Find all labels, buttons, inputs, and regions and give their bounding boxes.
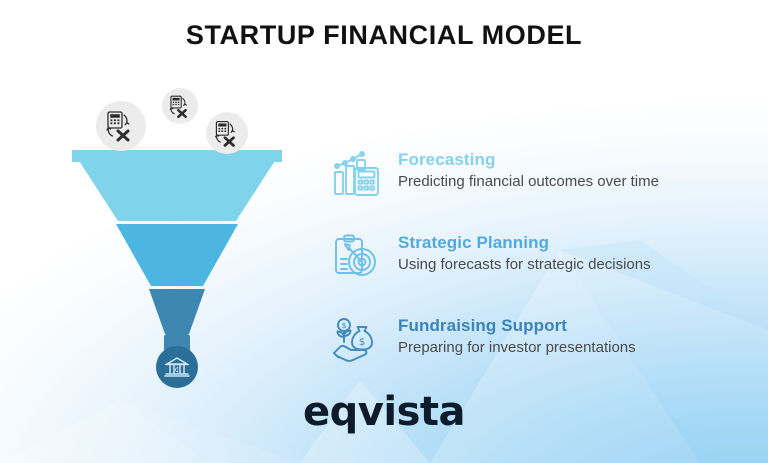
feature-subtitle-strategic-planning: Using forecasts for strategic decisions — [398, 255, 730, 275]
funnel-outlet: ¢ — [155, 345, 199, 389]
funnel-layer-bottom — [149, 289, 205, 334]
bar-chart-calculator-icon — [330, 148, 382, 202]
page-title: STARTUP FINANCIAL MODEL — [0, 20, 768, 51]
infographic-canvas: STARTUP FINANCIAL MODEL — [0, 0, 768, 463]
brand-logo: eqvista — [0, 389, 768, 435]
svg-text:$: $ — [359, 337, 365, 348]
badge-calculator-middle — [162, 88, 198, 124]
feature-title-forecasting: Forecasting — [398, 149, 730, 170]
svg-text:¢: ¢ — [174, 365, 179, 374]
feature-text-fundraising-support: Fundraising Support Preparing for invest… — [382, 314, 730, 358]
svg-text:$: $ — [341, 321, 346, 330]
funnel-layer-middle — [116, 224, 238, 286]
feature-item-strategic-planning[interactable]: Strategic Planning Using forecasts for s… — [330, 231, 730, 287]
feature-subtitle-forecasting: Predicting financial outcomes over time — [398, 172, 730, 192]
feature-subtitle-fundraising-support: Preparing for investor presentations — [398, 338, 730, 358]
calculator-reset-icon — [168, 94, 193, 119]
calculator-reset-icon — [104, 109, 138, 143]
calculator-reset-icon — [213, 119, 242, 148]
feature-item-forecasting[interactable]: Forecasting Predicting financial outcome… — [330, 148, 730, 204]
clipboard-target-icon — [330, 231, 382, 285]
feature-text-forecasting: Forecasting Predicting financial outcome… — [382, 148, 730, 192]
feature-text-strategic-planning: Strategic Planning Using forecasts for s… — [382, 231, 730, 275]
feature-item-fundraising-support[interactable]: $ $ Fundraising Support Preparing — [330, 314, 730, 370]
feature-title-strategic-planning: Strategic Planning — [398, 232, 730, 253]
hand-money-bag-icon: $ $ — [330, 314, 382, 368]
financial-model-funnel: ¢ — [52, 88, 302, 398]
feature-title-fundraising-support: Fundraising Support — [398, 315, 730, 336]
badge-calculator-left — [96, 101, 146, 151]
badge-calculator-right — [206, 112, 248, 154]
feature-list: Forecasting Predicting financial outcome… — [330, 148, 730, 397]
